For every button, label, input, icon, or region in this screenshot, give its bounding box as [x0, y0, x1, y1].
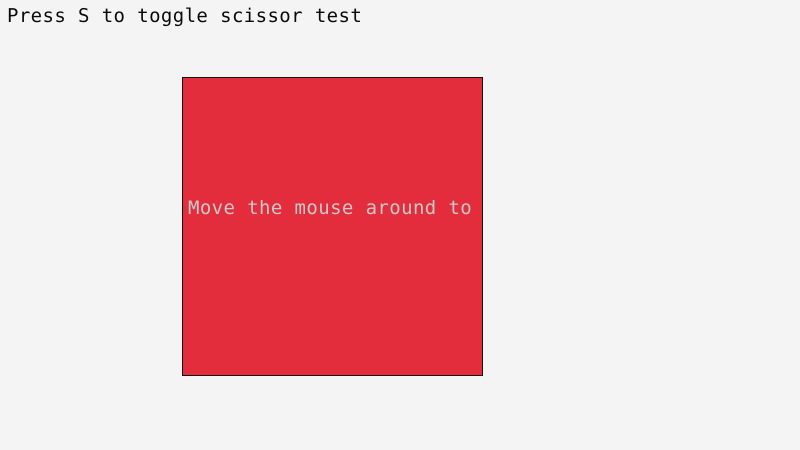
demo-canvas[interactable]: Press S to toggle scissor test Move the …: [0, 0, 800, 450]
scissor-rectangle[interactable]: Move the mouse around to resize the rect…: [182, 77, 483, 376]
scissor-toggle-hint: Press S to toggle scissor test: [7, 5, 362, 27]
scissor-clip-region: Move the mouse around to resize the rect…: [183, 78, 482, 375]
scissor-clipped-label: Move the mouse around to resize the rect…: [188, 197, 482, 219]
